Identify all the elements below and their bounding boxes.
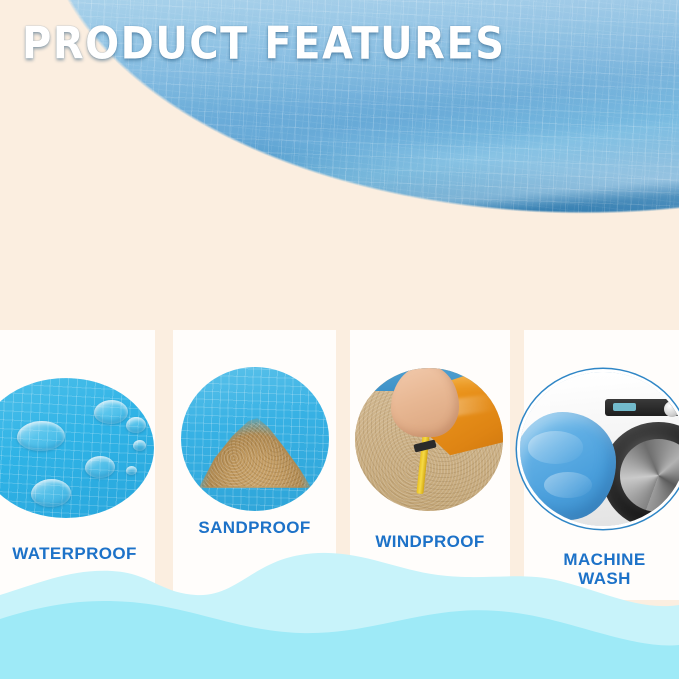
washer-display bbox=[613, 403, 635, 411]
water-droplet bbox=[126, 417, 146, 433]
page-title: PRODUCT FEATURES bbox=[22, 18, 506, 70]
washer-control-panel bbox=[605, 399, 679, 416]
feature-label-sandproof: SANDPROOF bbox=[173, 518, 336, 537]
product-features-infographic: PRODUCT FEATURES bbox=[0, 0, 679, 679]
bundle-fold-highlight bbox=[544, 472, 591, 498]
bundle-fold-highlight bbox=[528, 431, 584, 463]
water-droplets-on-fabric-icon bbox=[0, 378, 154, 518]
hand bbox=[391, 368, 459, 437]
water-droplet bbox=[126, 466, 137, 475]
water-droplet bbox=[133, 440, 146, 451]
washer-knob bbox=[664, 401, 679, 417]
water-droplet bbox=[31, 479, 71, 507]
blue-ripstop-fill bbox=[0, 378, 154, 518]
washing-machine-icon bbox=[520, 372, 679, 526]
washer-drum bbox=[620, 439, 679, 512]
sand-pile-on-fabric-icon bbox=[181, 367, 329, 511]
bottom-wave-decoration bbox=[0, 549, 679, 679]
hand-stake-blanket-icon bbox=[355, 368, 503, 511]
